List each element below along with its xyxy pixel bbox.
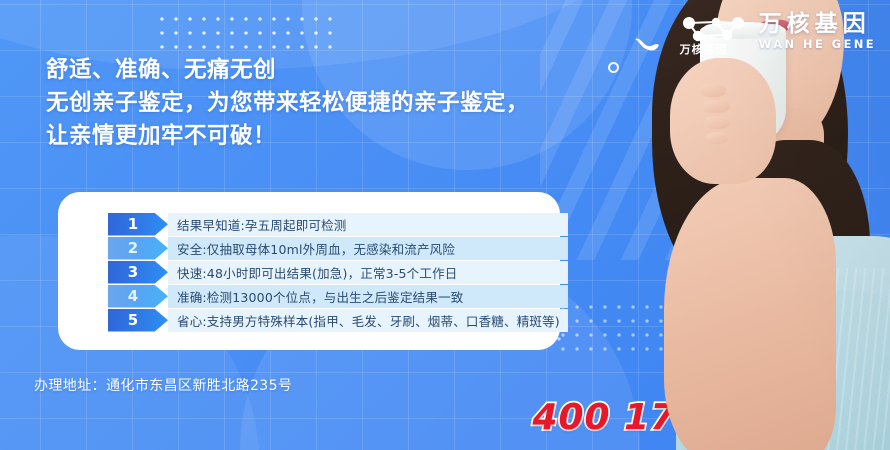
feature-list: 1 结果早知道:孕五周起即可检测 2 安全:仅抽取母体10ml外周血，无感染和流… — [108, 213, 568, 332]
feature-row: 5 省心:支持男方特殊样本(指甲、毛发、牙刷、烟蒂、口香糖、精斑等) — [108, 309, 568, 332]
feature-text: 准确:检测13000个位点，与出生之后鉴定结果一致 — [168, 285, 568, 308]
brand-name-cn: 万核基因 — [759, 12, 876, 36]
photo-finger — [702, 100, 730, 113]
promo-banner: 万核基因 万核基因 WAN HE GENE 舒适、准确、无痛无创 无创亲子鉴定，… — [0, 0, 890, 450]
feature-number-badge: 5 — [108, 309, 168, 332]
feature-row: 3 快速:48小时即可出结果(加急)，正常3-5个工作日 — [108, 261, 568, 284]
brand-name-en: WAN HE GENE — [759, 38, 876, 50]
photo-arm — [664, 178, 836, 450]
headline-line-2: 无创亲子鉴定，为您带来轻松便捷的亲子鉴定， — [46, 87, 646, 120]
dot-grid-icon-top — [155, 12, 337, 52]
feature-row: 2 安全:仅抽取母体10ml外周血，无感染和流产风险 — [108, 237, 568, 260]
feature-number-badge: 2 — [108, 237, 168, 260]
feature-number: 4 — [128, 289, 138, 304]
headline-line-1: 舒适、准确、无痛无创 — [46, 54, 646, 87]
photo-finger — [700, 84, 726, 97]
feature-row: 1 结果早知道:孕五周起即可检测 — [108, 213, 568, 236]
photo-finger — [704, 116, 730, 129]
feature-text: 结果早知道:孕五周起即可检测 — [168, 213, 568, 236]
photo-finger — [706, 132, 728, 144]
feature-number-badge: 3 — [108, 261, 168, 284]
feature-text: 省心:支持男方特殊样本(指甲、毛发、牙刷、烟蒂、口香糖、精斑等) — [168, 309, 568, 332]
headline-block: 舒适、准确、无痛无创 无创亲子鉴定，为您带来轻松便捷的亲子鉴定， 让亲情更加牢不… — [46, 54, 646, 153]
feature-text: 安全:仅抽取母体10ml外周血，无感染和流产风险 — [168, 237, 568, 260]
feature-text: 快速:48小时即可出结果(加急)，正常3-5个工作日 — [168, 261, 568, 284]
logo-mark-label: 万核基因 — [680, 41, 728, 57]
feature-row: 4 准确:检测13000个位点，与出生之后鉴定结果一致 — [108, 285, 568, 308]
feature-number-badge: 1 — [108, 213, 168, 236]
feature-number: 3 — [128, 265, 138, 280]
feature-number: 2 — [128, 241, 138, 256]
molecule-network-icon: 万核基因 — [678, 8, 750, 54]
feature-number: 5 — [128, 313, 138, 328]
brand-logo: 万核基因 万核基因 WAN HE GENE — [678, 8, 876, 54]
pregnant-woman-photo — [580, 0, 890, 450]
feature-number: 1 — [128, 217, 138, 232]
feature-number-badge: 4 — [108, 285, 168, 308]
headline-line-3: 让亲情更加牢不可破！ — [46, 120, 646, 153]
address-text: 办理地址：通化市东昌区新胜北路235号 — [34, 375, 292, 395]
